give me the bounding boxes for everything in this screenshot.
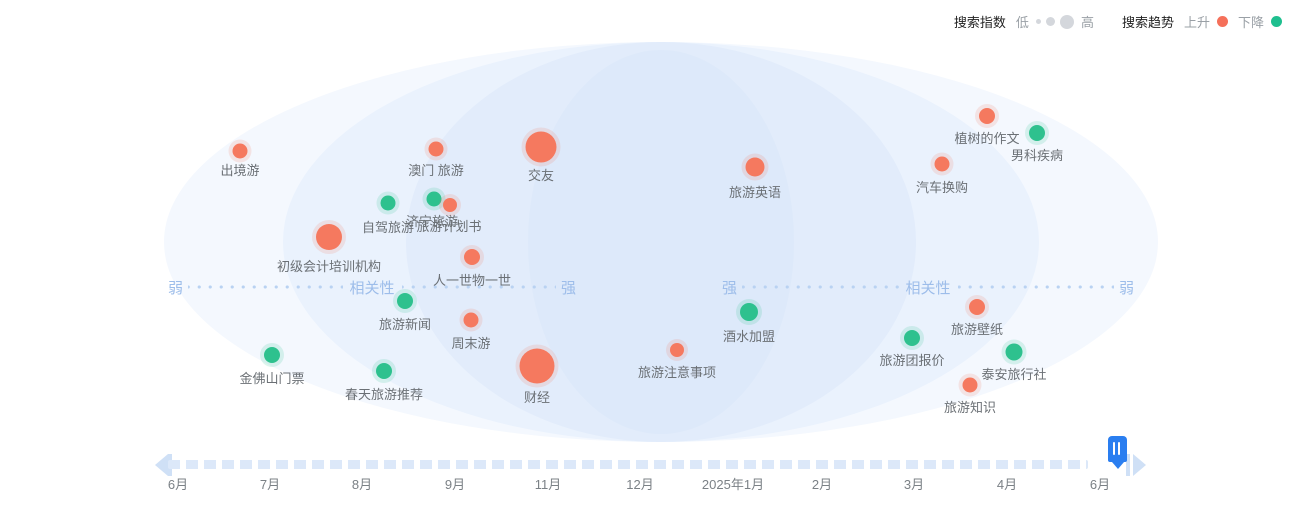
size-dot-medium-icon: [1046, 17, 1055, 26]
axis-right-strong-label: 强: [722, 277, 737, 298]
axis-left-strong-label: 强: [561, 277, 576, 298]
legend: 搜索指数 低 高 搜索趋势 上升 下降: [954, 12, 1282, 31]
bubble-point[interactable]: [740, 303, 758, 321]
bubble-label[interactable]: 旅游英语: [729, 182, 781, 201]
bubble-point[interactable]: [520, 349, 555, 384]
bubble-label[interactable]: 旅游壁纸: [951, 319, 1003, 338]
bubble-point[interactable]: [264, 347, 280, 363]
demand-graph-chart: 弱 相关性 强 强 相关性 弱 出境游澳门 旅游交友旅游英语植树的作文男科疾病汽…: [0, 42, 1302, 442]
size-dot-large-icon: [1060, 15, 1074, 29]
timeline-track[interactable]: [168, 460, 1088, 469]
bubble-point[interactable]: [233, 144, 248, 159]
timeline-tick[interactable]: 12月: [626, 474, 653, 493]
timeline-tick[interactable]: 2025年1月: [702, 474, 764, 493]
background-rings: [0, 42, 1302, 442]
timeline-tick[interactable]: 9月: [445, 474, 465, 493]
timeline-tick[interactable]: 8月: [352, 474, 372, 493]
legend-index-low: 低: [1016, 12, 1029, 31]
axis-left-dots-a: [188, 285, 342, 289]
bubble-point[interactable]: [443, 198, 457, 212]
timeline-tick[interactable]: 3月: [904, 474, 924, 493]
legend-index-group: 搜索指数 低 高: [954, 12, 1094, 31]
bubble-label[interactable]: 周末游: [451, 333, 490, 352]
bubble-label[interactable]: 植树的作文: [954, 128, 1019, 147]
legend-index-high: 高: [1081, 12, 1094, 31]
bubble-point[interactable]: [427, 192, 442, 207]
bubble-point[interactable]: [464, 313, 479, 328]
axis-right-dots-a: [742, 285, 898, 289]
axis-right-dots-b: [958, 285, 1114, 289]
bubble-point[interactable]: [381, 196, 396, 211]
bubble-label[interactable]: 初级会计培训机构: [277, 256, 381, 275]
bubble-point[interactable]: [316, 224, 342, 250]
bubble-point[interactable]: [935, 157, 950, 172]
bubble-label[interactable]: 人一世物一世: [433, 270, 511, 289]
bubble-label[interactable]: 春天旅游推荐: [345, 384, 423, 403]
bubble-point[interactable]: [464, 249, 480, 265]
bubble-label[interactable]: 旅游团报价: [879, 350, 944, 369]
bubble-point[interactable]: [670, 343, 684, 357]
bubble-label[interactable]: 金佛山门票: [239, 368, 304, 387]
axis-right-mid-label: 相关性: [904, 277, 953, 298]
legend-trend-group: 搜索趋势 上升 下降: [1122, 12, 1282, 31]
legend-trend-down-label: 下降: [1238, 12, 1264, 31]
timeline-tick[interactable]: 2月: [812, 474, 832, 493]
bubble-label[interactable]: 财经: [524, 387, 550, 406]
bubble-point[interactable]: [969, 299, 985, 315]
timeline-tick[interactable]: 7月: [260, 474, 280, 493]
axis-left-weak-label: 弱: [168, 277, 183, 298]
legend-trend-down-dot-icon: [1271, 16, 1282, 27]
timeline-tick[interactable]: 6月: [168, 474, 188, 493]
legend-trend-up-label: 上升: [1184, 12, 1210, 31]
axis-left-mid-label: 相关性: [348, 277, 397, 298]
bubble-label[interactable]: 出境游: [220, 160, 259, 179]
bubble-point[interactable]: [1006, 344, 1023, 361]
legend-size-scale: [1036, 15, 1074, 29]
size-dot-small-icon: [1036, 19, 1041, 24]
legend-trend-up-dot-icon: [1217, 16, 1228, 27]
axis-left: 弱 相关性 强: [168, 278, 576, 296]
prev-arrow-icon[interactable]: [155, 454, 168, 476]
bubble-label[interactable]: 旅游知识: [944, 397, 996, 416]
bubble-label[interactable]: 旅游注意事项: [638, 362, 716, 381]
bubble-point[interactable]: [746, 158, 765, 177]
bubble-point[interactable]: [376, 363, 392, 379]
timeline-tick[interactable]: 11月: [535, 474, 562, 493]
bubble-point[interactable]: [963, 378, 978, 393]
bubble-point[interactable]: [397, 293, 413, 309]
bubble-point[interactable]: [904, 330, 920, 346]
bubble-point[interactable]: [429, 142, 444, 157]
timeline-handle[interactable]: [1108, 436, 1127, 470]
bubble-label[interactable]: 酒水加盟: [723, 326, 775, 345]
next-arrow-icon[interactable]: [1133, 454, 1146, 476]
timeline-tick[interactable]: 6月: [1090, 474, 1110, 493]
bubble-point[interactable]: [979, 108, 995, 124]
bubble-point[interactable]: [1029, 125, 1045, 141]
bubble-point[interactable]: [526, 132, 557, 163]
bubble-label[interactable]: 男科疾病: [1011, 145, 1063, 164]
bubble-label[interactable]: 旅游新闻: [379, 314, 431, 333]
bubble-label[interactable]: 交友: [528, 165, 554, 184]
timeline-tick[interactable]: 4月: [997, 474, 1017, 493]
pause-icon[interactable]: [1108, 436, 1127, 462]
bubble-label[interactable]: 汽车换购: [916, 177, 968, 196]
bubble-label[interactable]: 泰安旅行社: [981, 364, 1046, 383]
legend-index-title: 搜索指数: [954, 12, 1006, 31]
timeline-scrubber[interactable]: 6月7月8月9月11月12月2025年1月2月3月4月6月: [0, 442, 1302, 521]
legend-trend-title: 搜索趋势: [1122, 12, 1174, 31]
bubble-label[interactable]: 澳门 旅游: [408, 160, 464, 179]
axis-right: 强 相关性 弱: [722, 278, 1134, 296]
bubble-label[interactable]: 旅游计划书: [416, 216, 481, 235]
axis-right-weak-label: 弱: [1119, 277, 1134, 298]
